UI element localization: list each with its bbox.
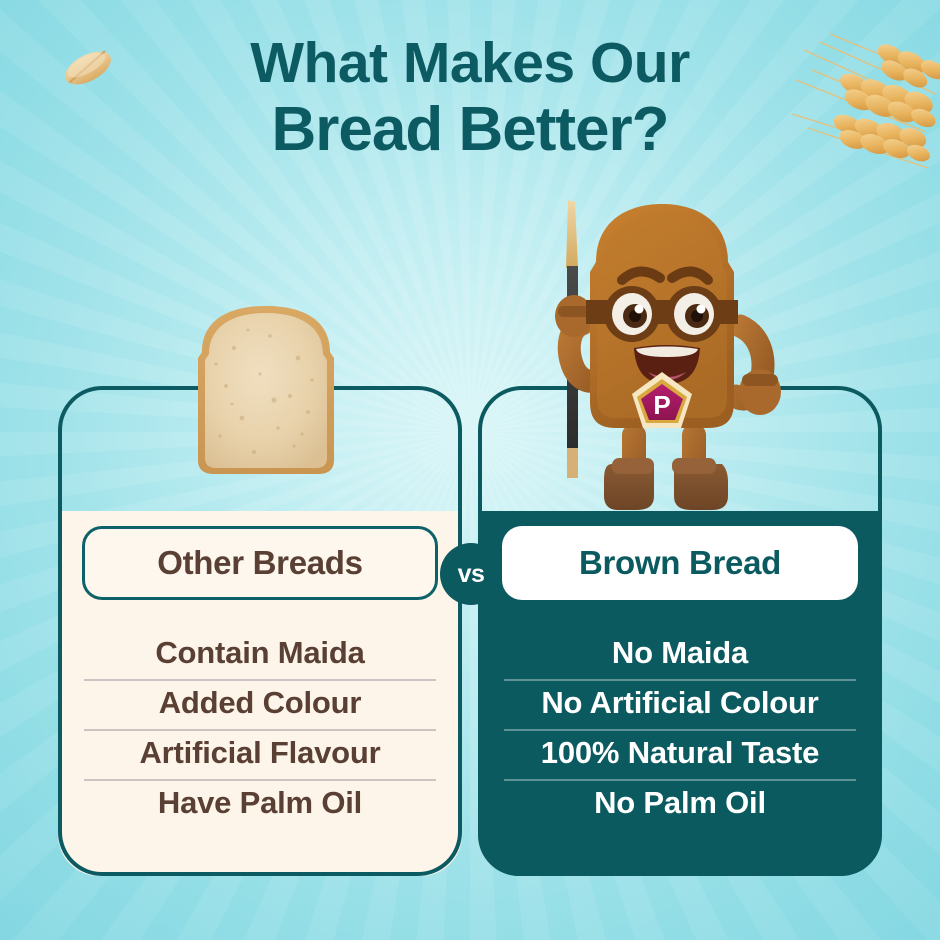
panel-left-header: Other Breads <box>82 526 438 600</box>
vs-badge: vs <box>440 543 502 605</box>
panel-right-header-label: Brown Bread <box>579 544 781 582</box>
feature-item: No Palm Oil <box>504 781 856 829</box>
bread-slice-image <box>182 300 350 478</box>
staff-tip-icon <box>566 200 578 268</box>
panel-left-header-label: Other Breads <box>157 544 362 582</box>
vs-badge-label: vs <box>458 560 485 589</box>
feature-item: No Artificial Colour <box>504 681 856 731</box>
feature-item: 100% Natural Taste <box>504 731 856 781</box>
page-title: What Makes Our Bread Better? <box>0 34 940 161</box>
feature-list-other-breads: Contain Maida Added Colour Artificial Fl… <box>84 631 436 829</box>
bread-superhero-mascot: P <box>522 196 802 526</box>
title-line-2: Bread Better? <box>0 98 940 161</box>
title-line-1: What Makes Our <box>0 34 940 92</box>
feature-item: Artificial Flavour <box>84 731 436 781</box>
panel-right-header: Brown Bread <box>502 526 858 600</box>
infographic-poster: What Makes Our Bread Better? Other Bread… <box>0 0 940 940</box>
feature-item: Added Colour <box>84 681 436 731</box>
badge-letter: P <box>653 390 670 420</box>
feature-item: Have Palm Oil <box>84 781 436 829</box>
feature-item: No Maida <box>504 631 856 681</box>
feature-item: Contain Maida <box>84 631 436 681</box>
feature-list-brown-bread: No Maida No Artificial Colour 100% Natur… <box>504 631 856 829</box>
